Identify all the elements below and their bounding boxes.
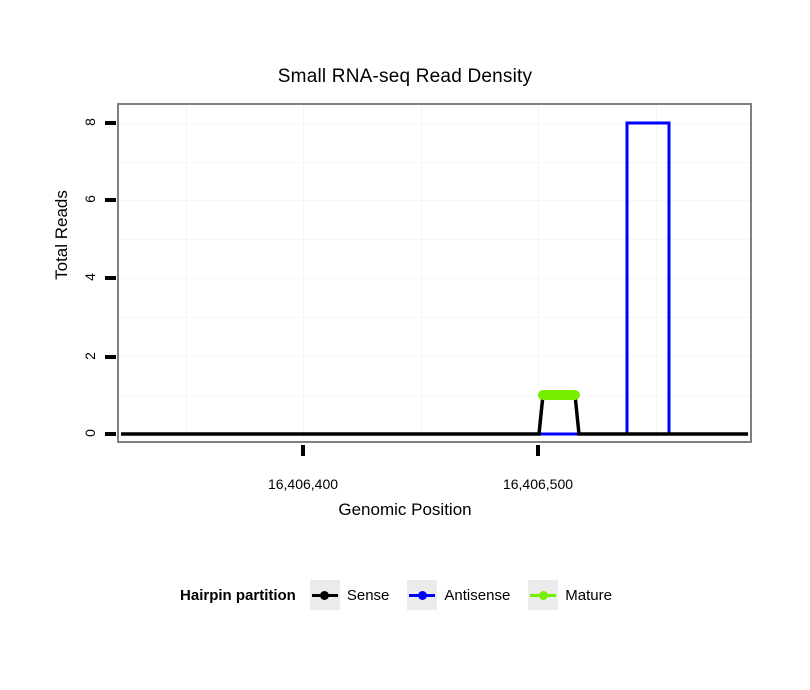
legend-entry-mature[interactable]: Mature: [528, 580, 624, 610]
y-tick-label-4: 4: [82, 266, 98, 288]
y-tick-mark-4: [105, 276, 116, 280]
y-axis-title: Total Reads: [52, 165, 72, 305]
legend-key-dot-antisense: [418, 591, 427, 600]
x-tick-mark-2: [536, 445, 540, 456]
plot-panel: [117, 103, 752, 443]
legend-key-dot-mature: [539, 591, 548, 600]
legend-title: Hairpin partition: [180, 587, 296, 604]
legend-key-mature: [528, 580, 558, 610]
y-tick-mark-0: [105, 432, 116, 436]
series-sense-line: [121, 395, 748, 434]
y-tick-label-0: 0: [82, 422, 98, 444]
series-antisense-line: [121, 123, 748, 434]
x-tick-mark-1: [301, 445, 305, 456]
legend-entry-sense[interactable]: Sense: [310, 580, 402, 610]
legend-label-mature: Mature: [565, 587, 612, 604]
plot-area: [119, 105, 750, 441]
y-tick-label-8: 8: [82, 111, 98, 133]
legend: Hairpin partition Sense Antisense Mature: [0, 580, 810, 610]
y-tick-mark-8: [105, 121, 116, 125]
x-tick-label-1: 16,406,400: [233, 476, 373, 492]
legend-key-antisense: [407, 580, 437, 610]
x-axis-title: Genomic Position: [0, 500, 810, 520]
legend-key-sense: [310, 580, 340, 610]
legend-key-dot-sense: [320, 591, 329, 600]
legend-label-sense: Sense: [347, 587, 390, 604]
data-traces: [119, 105, 750, 441]
x-tick-label-2: 16,406,500: [468, 476, 608, 492]
y-tick-label-2: 2: [82, 345, 98, 367]
y-tick-mark-2: [105, 355, 116, 359]
y-tick-label-6: 6: [82, 188, 98, 210]
chart-title: Small RNA-seq Read Density: [0, 66, 810, 88]
y-tick-mark-6: [105, 198, 116, 202]
legend-label-antisense: Antisense: [444, 587, 510, 604]
legend-entry-antisense[interactable]: Antisense: [407, 580, 522, 610]
